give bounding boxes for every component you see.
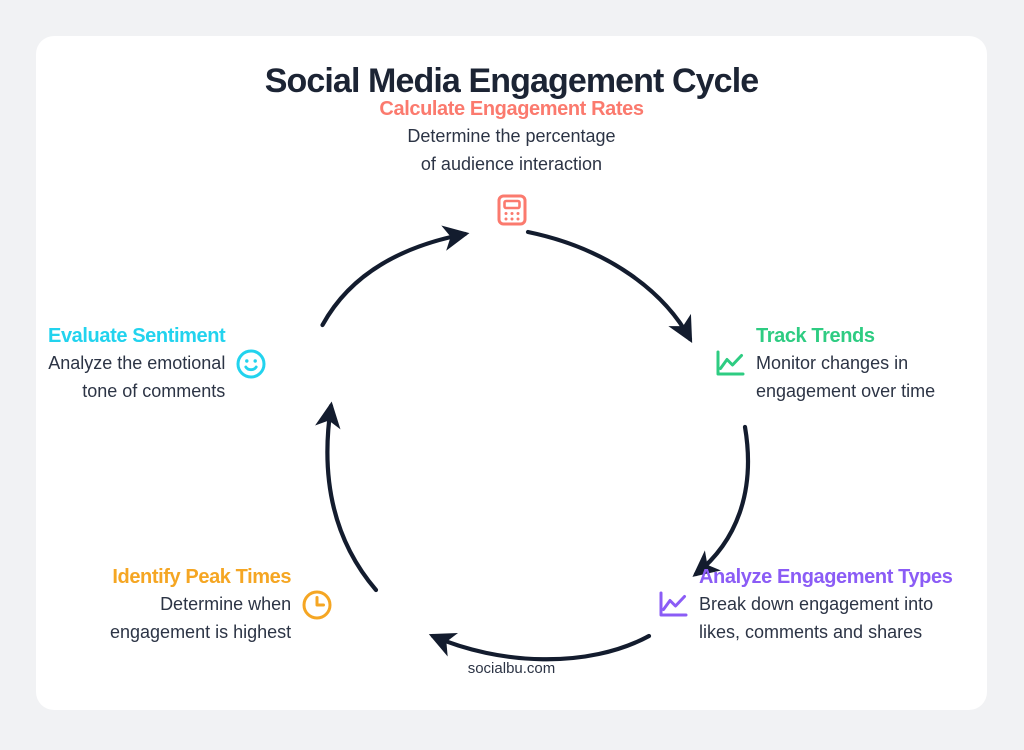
cycle-step-peak-heading: Identify Peak Times <box>110 564 291 591</box>
cycle-step-analyze-desc-line1: Break down engagement into <box>699 591 952 619</box>
calculator-icon <box>495 193 529 227</box>
line-chart-icon <box>656 588 690 622</box>
cycle-step-evaluate-text: Evaluate Sentiment Analyze the emotional… <box>48 323 225 406</box>
cycle-step-calculate-desc-line2: of audience interaction <box>379 151 643 179</box>
cycle-step-peak-desc-line2: engagement is highest <box>110 619 291 647</box>
cycle-step-track[interactable]: Track Trends Monitor changes in engageme… <box>713 323 935 406</box>
infographic-card: Social Media Engagement Cycle <box>36 36 987 710</box>
cycle-step-peak-desc-line1: Determine when <box>110 591 291 619</box>
cycle-step-analyze[interactable]: Analyze Engagement Types Break down enga… <box>656 564 952 647</box>
engagement-cycle-diagram: Calculate Engagement Rates Determine the… <box>36 36 987 710</box>
line-chart-icon <box>713 347 747 381</box>
cycle-step-evaluate[interactable]: Evaluate Sentiment Analyze the emotional… <box>48 323 268 406</box>
arrow-track-to-analyze <box>696 427 748 574</box>
arrow-peak-to-evaluate <box>327 406 376 590</box>
arrow-calculate-to-track <box>528 232 690 339</box>
cycle-step-calculate-heading: Calculate Engagement Rates <box>379 96 643 123</box>
cycle-step-calculate-text: Calculate Engagement Rates Determine the… <box>379 96 643 179</box>
cycle-step-track-text: Track Trends Monitor changes in engageme… <box>756 323 935 406</box>
cycle-step-evaluate-desc-line1: Analyze the emotional <box>48 350 225 378</box>
cycle-step-analyze-heading: Analyze Engagement Types <box>699 564 952 591</box>
smiley-face-icon <box>234 347 268 381</box>
cycle-step-track-desc-line1: Monitor changes in <box>756 350 935 378</box>
arrow-analyze-to-peak <box>433 636 649 659</box>
cycle-step-peak-text: Identify Peak Times Determine when engag… <box>110 564 291 647</box>
cycle-step-analyze-desc-line2: likes, comments and shares <box>699 619 952 647</box>
cycle-step-track-desc-line2: engagement over time <box>756 378 935 406</box>
cycle-step-analyze-text: Analyze Engagement Types Break down enga… <box>699 564 952 647</box>
clock-icon <box>300 588 334 622</box>
cycle-step-evaluate-heading: Evaluate Sentiment <box>48 323 225 350</box>
cycle-step-track-heading: Track Trends <box>756 323 935 350</box>
cycle-step-calculate[interactable]: Calculate Engagement Rates Determine the… <box>185 96 838 227</box>
cycle-step-evaluate-desc-line2: tone of comments <box>48 378 225 406</box>
cycle-step-peak[interactable]: Identify Peak Times Determine when engag… <box>110 564 334 647</box>
arrow-evaluate-to-calculate <box>323 234 466 325</box>
cycle-step-calculate-desc-line1: Determine the percentage <box>379 123 643 151</box>
page-root: Social Media Engagement Cycle <box>0 0 1024 750</box>
source-label: socialbu.com <box>36 660 987 677</box>
